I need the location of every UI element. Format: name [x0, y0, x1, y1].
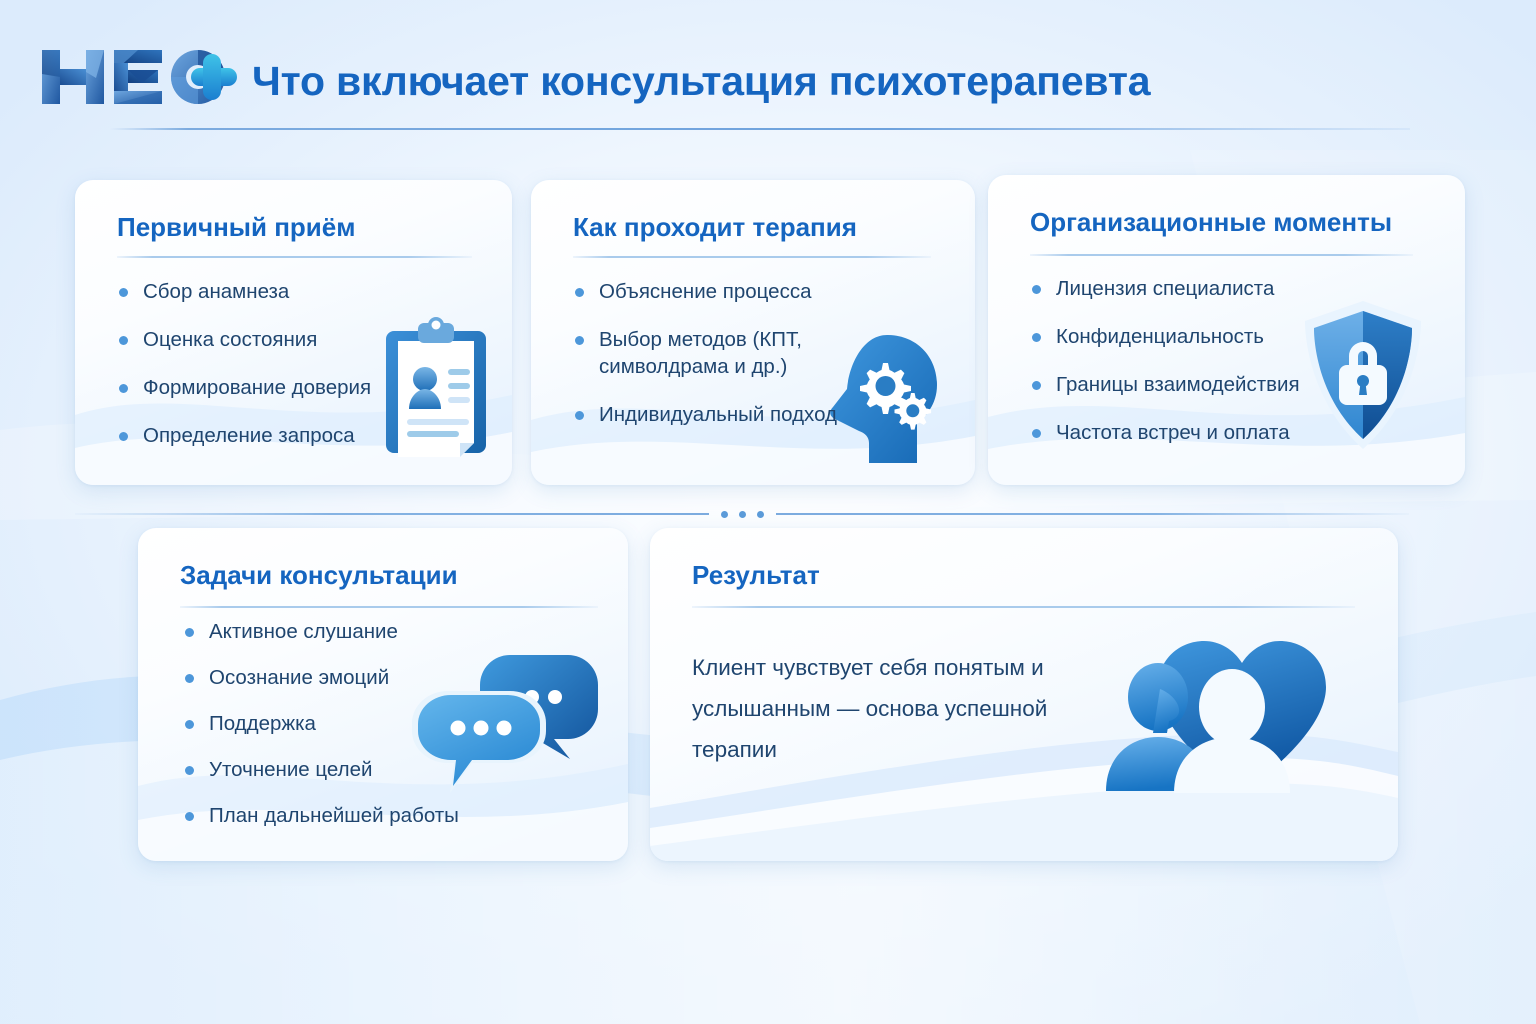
card-title-divider: [1030, 254, 1413, 256]
list-item: Индивидуальный подход: [573, 401, 873, 428]
list-item: Оценка состояния: [117, 326, 437, 353]
list-item: Выбор методов (КПТ, символдрама и др.): [573, 326, 873, 380]
bullet-dot-icon: [119, 336, 128, 345]
list-item: Уточнение целей: [183, 756, 533, 783]
divider-line-left: [75, 513, 709, 515]
list-item: Формирование доверия: [117, 374, 437, 401]
card-organizational[interactable]: Организационные моменты Лицензия специал…: [988, 175, 1465, 485]
list-item: Объяснение процесса: [573, 278, 873, 305]
card-primary-appointment[interactable]: Первичный приём Сбор анамнеза Оценка сос…: [75, 180, 512, 485]
card-title-divider: [692, 606, 1355, 608]
list-item-label: Уточнение целей: [209, 758, 372, 781]
list-item-label: Осознание эмоций: [209, 666, 389, 689]
heart-people-icon: [1092, 629, 1354, 811]
page-header: Что включает консультация психотерапевта: [0, 0, 1536, 150]
divider-line-right: [776, 513, 1410, 515]
card-title-divider: [180, 606, 598, 608]
bullet-list: Сбор анамнеза Оценка состояния Формирова…: [117, 278, 437, 449]
bullet-dot-icon: [185, 720, 194, 729]
divider-dot-icon: [739, 511, 746, 518]
bullet-list: Лицензия специалиста Конфиденциальность …: [1030, 275, 1360, 446]
bullet-list: Объяснение процесса Выбор методов (КПТ, …: [573, 278, 873, 428]
bullet-dot-icon: [185, 812, 194, 821]
divider-dots: [709, 511, 776, 518]
list-item: Поддержка: [183, 710, 533, 737]
card-title: Первичный приём: [117, 212, 355, 243]
bullet-dot-icon: [1032, 429, 1041, 438]
list-item-label: Поддержка: [209, 712, 316, 735]
list-item: Активное слушание: [183, 618, 533, 645]
header-divider: [110, 128, 1410, 130]
card-title-divider: [117, 256, 472, 258]
list-item-label: Индивидуальный подход: [599, 403, 837, 426]
list-item-label: Границы взаимодействия: [1056, 373, 1300, 396]
page-title: Что включает консультация психотерапевта: [252, 58, 1150, 105]
list-item-label: Определение запроса: [143, 424, 355, 447]
list-item: Лицензия специалиста: [1030, 275, 1360, 302]
divider-dot-icon: [721, 511, 728, 518]
list-item: Определение запроса: [117, 422, 437, 449]
list-item: Частота встреч и оплата: [1030, 419, 1360, 446]
result-body-text: Клиент чувствует себя понятым и услышанн…: [692, 648, 1112, 771]
bullet-dot-icon: [1032, 333, 1041, 342]
card-title: Результат: [692, 560, 820, 591]
list-item: Сбор анамнеза: [117, 278, 437, 305]
card-title-divider: [573, 256, 931, 258]
list-item-label: Формирование доверия: [143, 376, 371, 399]
list-item-label: Выбор методов (КПТ, символдрама и др.): [599, 328, 802, 378]
card-therapy-process[interactable]: Как проходит терапия Объяснение процесса…: [531, 180, 975, 485]
neo-plus-logo-icon: [38, 42, 248, 112]
bullet-dot-icon: [185, 766, 194, 775]
list-item: План дальнейшей работы: [183, 802, 533, 829]
list-item-label: Оценка состояния: [143, 328, 317, 351]
card-consultation-tasks[interactable]: Задачи консультации Активное слушание Ос…: [138, 528, 628, 861]
divider-dot-icon: [757, 511, 764, 518]
bullet-dot-icon: [185, 674, 194, 683]
bullet-dot-icon: [1032, 381, 1041, 390]
list-item: Конфиденциальность: [1030, 323, 1360, 350]
bullet-list: Активное слушание Осознание эмоций Подде…: [183, 618, 533, 848]
list-item: Границы взаимодействия: [1030, 371, 1360, 398]
list-item-label: Частота встреч и оплата: [1056, 421, 1290, 444]
list-item-label: План дальнейшей работы: [209, 804, 459, 827]
list-item-label: Сбор анамнеза: [143, 280, 289, 303]
bullet-dot-icon: [575, 288, 584, 297]
card-title: Как проходит терапия: [573, 212, 857, 243]
bullet-dot-icon: [119, 288, 128, 297]
list-item-label: Лицензия специалиста: [1056, 277, 1274, 300]
card-title: Организационные моменты: [1030, 207, 1392, 238]
section-divider: [75, 508, 1409, 520]
list-item-label: Конфиденциальность: [1056, 325, 1264, 348]
bullet-dot-icon: [185, 628, 194, 637]
bullet-dot-icon: [119, 432, 128, 441]
list-item-label: Активное слушание: [209, 620, 398, 643]
list-item-label: Объяснение процесса: [599, 280, 811, 303]
card-result[interactable]: Результат Клиент чувствует себя понятым …: [650, 528, 1398, 861]
card-title: Задачи консультации: [180, 560, 458, 591]
bullet-dot-icon: [575, 336, 584, 345]
bullet-dot-icon: [119, 384, 128, 393]
bullet-dot-icon: [575, 411, 584, 420]
bullet-dot-icon: [1032, 285, 1041, 294]
list-item: Осознание эмоций: [183, 664, 533, 691]
